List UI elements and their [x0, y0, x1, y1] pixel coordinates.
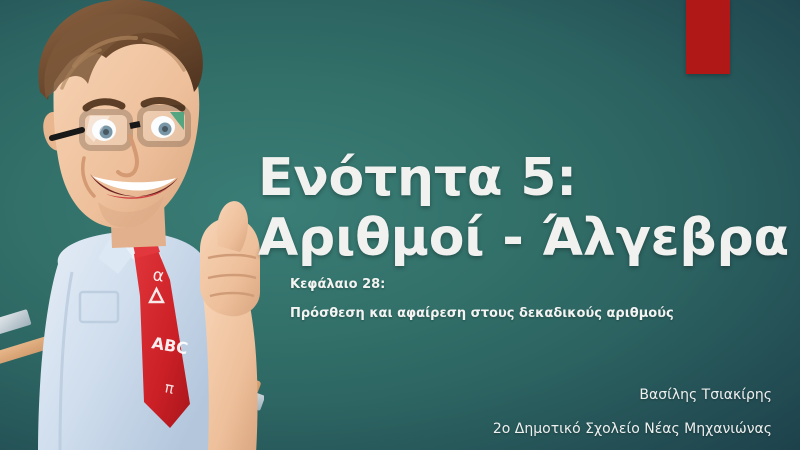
- slide-footer: Βασίλης Τσιακίρης 2ο Δημοτικό Σχολείο Νέ…: [292, 378, 772, 447]
- red-accent-bar: [686, 0, 730, 74]
- teacher-torso: [38, 232, 224, 450]
- slide-subtitle-chapter: Κεφάλαιο 28:: [290, 271, 760, 300]
- footer-school: 2ο Δημοτικό Σχολείο Νέας Μηχανιώνας: [292, 412, 772, 446]
- slide-title: Ενότητα 5: Αριθμοί - Άλγεβρα: [258, 148, 758, 269]
- slide-title-line-1: Ενότητα 5:: [258, 148, 758, 208]
- slide-title-line-2: Αριθμοί - Άλγεβρα: [258, 208, 758, 268]
- teacher-head: [38, 0, 202, 228]
- cartoon-teacher-illustration: α ABC π: [0, 0, 264, 450]
- thumbs-up-hand: [200, 201, 260, 450]
- presentation-slide: α ABC π: [0, 0, 800, 450]
- slide-subtitle-topic: Πρόσθεση και αφαίρεση στους δεκαδικούς α…: [290, 300, 760, 329]
- footer-author: Βασίλης Τσιακίρης: [292, 378, 772, 412]
- slide-subtitle: Κεφάλαιο 28: Πρόσθεση και αφαίρεση στους…: [290, 271, 760, 328]
